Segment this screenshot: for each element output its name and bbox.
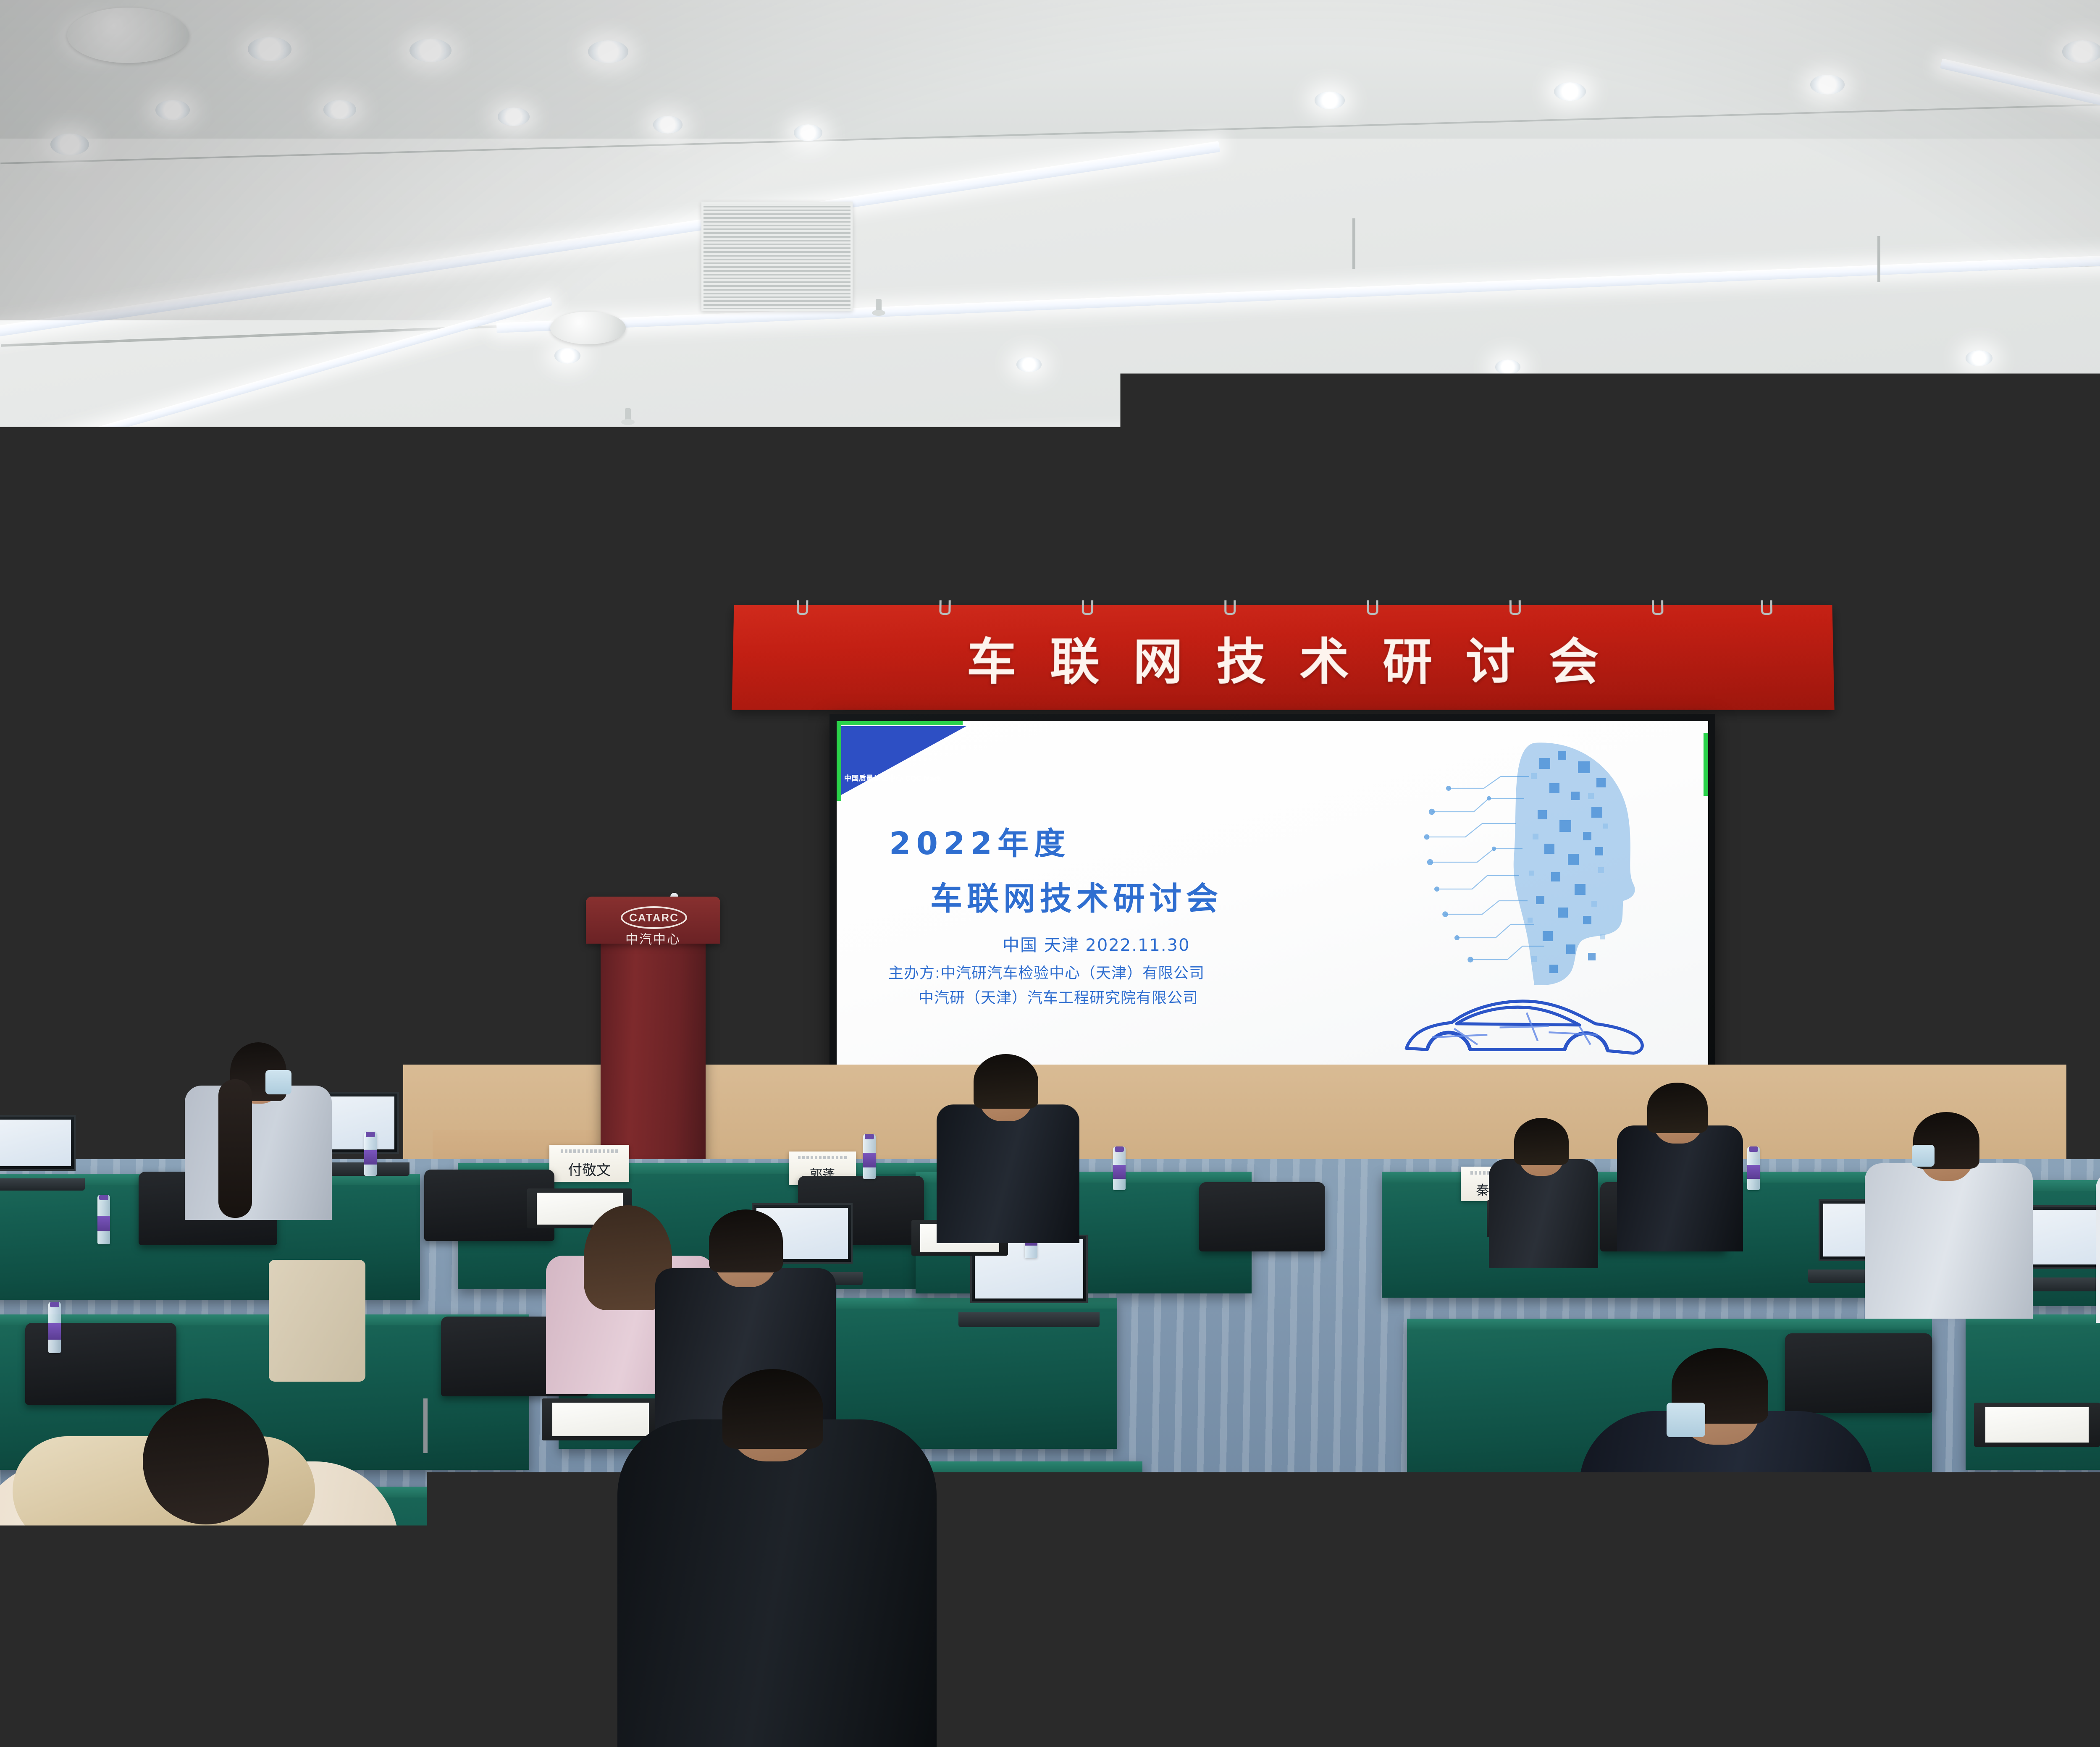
running-man-icon xyxy=(202,716,217,738)
door-handle[interactable] xyxy=(168,962,176,1037)
attendee-hair xyxy=(218,1079,252,1218)
screen-edge-green xyxy=(1704,733,1708,796)
water-bottle xyxy=(364,1132,377,1176)
sprinkler-icon xyxy=(876,299,882,313)
water-bottle xyxy=(48,1302,61,1353)
chair[interactable] xyxy=(1785,1333,1932,1413)
slide-line-1: 2022年度 xyxy=(889,818,1351,863)
banner-char: 联 xyxy=(1050,622,1100,693)
handbag xyxy=(269,1260,365,1382)
downlight xyxy=(248,37,291,61)
downlight xyxy=(1016,357,1042,372)
wall-switch-panel[interactable] xyxy=(23,985,58,1002)
laptop[interactable] xyxy=(0,1115,76,1191)
led-strip xyxy=(454,397,2100,460)
banner-char: 技 xyxy=(1216,622,1267,693)
chair[interactable] xyxy=(1199,1182,1325,1251)
slide-organizer-2: 中汽研（天津）汽车工程研究院有限公司 xyxy=(919,986,1351,1007)
downlight xyxy=(1966,350,1992,366)
banner-char: 讨 xyxy=(1465,622,1516,693)
notepad xyxy=(1974,1403,2100,1447)
slide-line-2: 车联网技术研讨会 xyxy=(930,873,1351,919)
banner-char: 网 xyxy=(1133,622,1184,693)
notepad xyxy=(542,1398,659,1440)
ceiling-speaker-icon xyxy=(550,312,626,344)
digital-head-graphic xyxy=(1423,736,1659,997)
exit-sign-label-en: EXIT xyxy=(217,723,233,731)
podium-org-name: 中汽中心 xyxy=(601,929,706,947)
attendee-hair xyxy=(974,1054,1038,1109)
downlight xyxy=(1315,92,1345,109)
downlight xyxy=(554,348,580,364)
attendee-hair xyxy=(722,1369,823,1449)
attendee-body xyxy=(1579,1411,1873,1747)
banner-char: 车 xyxy=(966,622,1018,693)
slide-corner-graphic xyxy=(840,726,966,795)
face-mask xyxy=(265,1070,291,1094)
ceiling-hanger xyxy=(1877,236,1880,282)
slide-logo: 中国质量认证中心 CQC Mark xyxy=(844,775,941,782)
exit-sign-label-cn: 安全出口 xyxy=(192,709,202,745)
downlight xyxy=(588,40,628,63)
door-handle[interactable] xyxy=(184,962,192,1037)
water-bottle xyxy=(1747,1146,1760,1190)
exit-sign: 安全出口 EXIT xyxy=(190,714,235,740)
banner-char: 会 xyxy=(1549,622,1600,693)
downlight xyxy=(498,108,530,126)
water-bottle xyxy=(863,1134,876,1179)
attendee-hair xyxy=(143,1398,269,1524)
screen-edge-green xyxy=(837,721,841,801)
orange-down-jacket xyxy=(2024,1558,2100,1747)
attendee-body xyxy=(2096,1172,2100,1323)
conference-room-photo: 安全出口 EXIT 车 联 网 技 术 研 讨 会 中国质量认证中心 CQC M… xyxy=(0,0,2100,1747)
name-placard: 付敬文 xyxy=(549,1145,629,1182)
downlight xyxy=(155,100,190,120)
led-strip xyxy=(0,141,1220,340)
ceiling-hanger xyxy=(1352,218,1355,269)
downlight xyxy=(409,39,451,62)
downlight xyxy=(653,116,682,134)
sprinkler-icon xyxy=(625,408,631,422)
table-top xyxy=(1407,1319,1932,1330)
sprinkler-icon xyxy=(987,454,993,469)
table-top xyxy=(2092,1487,2100,1498)
attendee-body xyxy=(1617,1125,1743,1251)
banner-char: 术 xyxy=(1299,622,1350,693)
water-bottle xyxy=(97,1195,110,1244)
chair-leg xyxy=(423,1398,428,1453)
water-bottle xyxy=(1113,1146,1126,1190)
downlight xyxy=(1810,75,1845,94)
sportscar-graphic xyxy=(1394,988,1654,1068)
wall-speaker xyxy=(310,728,361,800)
slide-organizer-1: 主办方:中汽研汽车检验中心（天津）有限公司 xyxy=(888,961,1351,983)
face-mask xyxy=(1912,1145,1935,1167)
attendee-hair xyxy=(709,1209,783,1272)
event-banner: 车 联 网 技 术 研 讨 会 xyxy=(732,605,1834,710)
downlight xyxy=(323,100,356,119)
attendee-body xyxy=(1865,1163,2033,1319)
screen-edge-green xyxy=(837,721,963,725)
slide-location-date: 中国 天津 2022.11.30 xyxy=(1003,931,1351,956)
face-mask xyxy=(1667,1403,1705,1437)
downlight xyxy=(2062,40,2100,63)
ceiling-speaker-icon xyxy=(67,8,189,63)
attendee-body xyxy=(617,1419,937,1747)
downlight xyxy=(794,124,822,141)
presentation-screen: 中国质量认证中心 CQC Mark xyxy=(829,714,1715,1089)
air-vent xyxy=(701,202,853,311)
catarc-logo: CATARC xyxy=(621,906,687,929)
banner-char: 研 xyxy=(1383,622,1433,693)
attendee-hair xyxy=(1647,1083,1708,1133)
downlight xyxy=(50,134,89,155)
attendee-hair xyxy=(1514,1118,1569,1165)
downlight xyxy=(1495,359,1520,375)
left-wall-beige xyxy=(0,483,76,1188)
attendee-body xyxy=(185,1086,332,1220)
downlight xyxy=(1554,82,1586,101)
slide-content: 中国质量认证中心 CQC Mark xyxy=(837,721,1708,1082)
chair[interactable] xyxy=(25,1323,176,1405)
attendee-body xyxy=(937,1104,1079,1243)
wall-switch-single[interactable] xyxy=(64,986,79,1004)
placard-name: 付敬文 xyxy=(568,1159,611,1179)
